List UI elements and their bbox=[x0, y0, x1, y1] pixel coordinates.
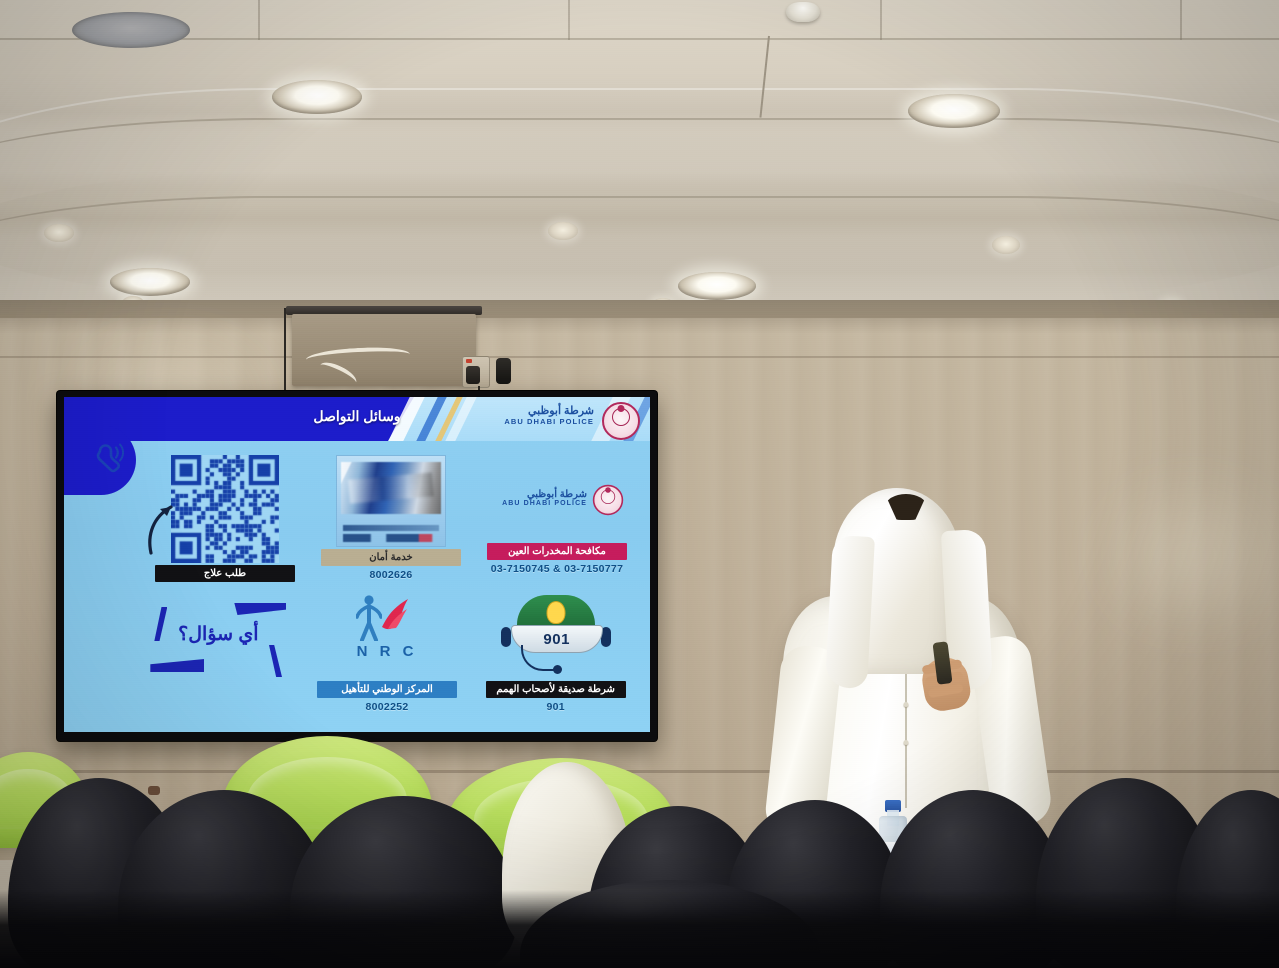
downlight-icon bbox=[678, 272, 756, 300]
amaan-photo bbox=[341, 462, 441, 514]
wall-shadow bbox=[0, 300, 1279, 334]
hair-clip-icon bbox=[148, 786, 160, 795]
downlight-icon bbox=[44, 224, 74, 242]
plug-icon bbox=[466, 366, 480, 384]
presentation-slide: وسائل التواصل شرطة أبوظبي ABU DHABI POLI… bbox=[64, 397, 650, 732]
adp-name-arabic: شرطة أبوظبي bbox=[502, 489, 587, 500]
police-cap-icon bbox=[517, 595, 595, 629]
adp-emblem-icon bbox=[593, 485, 623, 515]
slide-header-bar: وسائل التواصل شرطة أبوظبي ABU DHABI POLI… bbox=[64, 397, 650, 441]
wall-socket[interactable] bbox=[462, 356, 490, 388]
adp-name-english: ABU DHABI POLICE bbox=[502, 500, 587, 508]
any-question-text: أي سؤال؟ bbox=[148, 623, 288, 646]
item-label-chip: شرطة صديقة لأصحاب الهمم bbox=[486, 681, 626, 698]
item-label-chip: المركز الوطني للتأهيل bbox=[317, 681, 457, 698]
headset-mic-icon bbox=[521, 645, 557, 671]
nrc-logo: N R C bbox=[328, 593, 446, 679]
item-phone-number: 901 bbox=[546, 701, 564, 713]
adp-name-english: ABU DHABI POLICE bbox=[504, 418, 594, 426]
downlight-icon bbox=[908, 94, 1000, 128]
amaan-service-card bbox=[336, 455, 446, 547]
adp-brand-header: شرطة أبوظبي ABU DHABI POLICE bbox=[504, 406, 594, 425]
power-adapter bbox=[496, 358, 511, 384]
headset-ear-icon bbox=[501, 627, 511, 647]
slide-item-any-question: أي سؤال؟ bbox=[134, 593, 303, 679]
police-cap-901-logo: 901 bbox=[497, 593, 615, 679]
downlight-icon bbox=[110, 268, 190, 296]
lecture-hall-photo: وسائل التواصل شرطة أبوظبي ABU DHABI POLI… bbox=[0, 0, 1279, 968]
slide-item-police-901[interactable]: 901 شرطة صديقة لأصحاب الهمم 901 bbox=[471, 593, 640, 713]
nrc-acronym: N R C bbox=[328, 643, 446, 660]
slide-item-treatment-request[interactable]: طلب علاج bbox=[142, 455, 308, 582]
amaan-contact-text bbox=[343, 534, 439, 542]
wall-mounted-tv[interactable]: وسائل التواصل شرطة أبوظبي ABU DHABI POLI… bbox=[57, 391, 657, 741]
smoke-detector-icon bbox=[786, 2, 820, 22]
adp-name-arabic: شرطة أبوظبي bbox=[504, 406, 594, 418]
cap-badge-icon bbox=[546, 601, 565, 624]
amaan-email-text bbox=[343, 525, 439, 531]
item-label-chip: طلب علاج bbox=[155, 565, 295, 582]
ghutra-fold bbox=[825, 535, 875, 689]
person-figure-icon bbox=[356, 595, 382, 641]
ceiling bbox=[0, 0, 1279, 330]
socket-led-icon bbox=[466, 359, 472, 363]
power-cable bbox=[284, 308, 286, 392]
downlight-icon bbox=[992, 236, 1020, 254]
audience-shoulders bbox=[0, 890, 1279, 968]
item-label-chip: خدمة أمان bbox=[321, 549, 461, 566]
adp-brand-block: شرطة أبوظبي ABU DHABI POLICE bbox=[487, 455, 627, 541]
item-phone-number: 03-7150745 & 03-7150777 bbox=[491, 563, 623, 575]
downlight-icon bbox=[548, 222, 578, 240]
slide-item-nrc[interactable]: N R C المركز الوطني للتأهيل 8002252 bbox=[303, 593, 472, 713]
item-phone-number: 8002252 bbox=[366, 701, 409, 713]
item-label-chip: مكافحة المخدرات العين bbox=[487, 543, 627, 560]
downlight-icon bbox=[272, 80, 362, 114]
item-phone-number: 8002626 bbox=[370, 569, 413, 581]
adp-emblem-icon bbox=[602, 402, 640, 440]
arrow-icon bbox=[145, 495, 185, 555]
flame-wing-icon bbox=[380, 597, 410, 631]
any-question-callout: أي سؤال؟ bbox=[148, 593, 288, 679]
ceiling-vent-icon bbox=[72, 12, 190, 48]
qr-code-icon[interactable] bbox=[171, 455, 279, 563]
slide-content-grid: طلب علاج خدمة أمان 8002626 bbox=[64, 449, 650, 726]
slide-item-anti-narcotics[interactable]: شرطة أبوظبي ABU DHABI POLICE مكافحة المخ… bbox=[474, 455, 640, 575]
slide-item-amaan-service[interactable]: خدمة أمان 8002626 bbox=[308, 455, 474, 581]
